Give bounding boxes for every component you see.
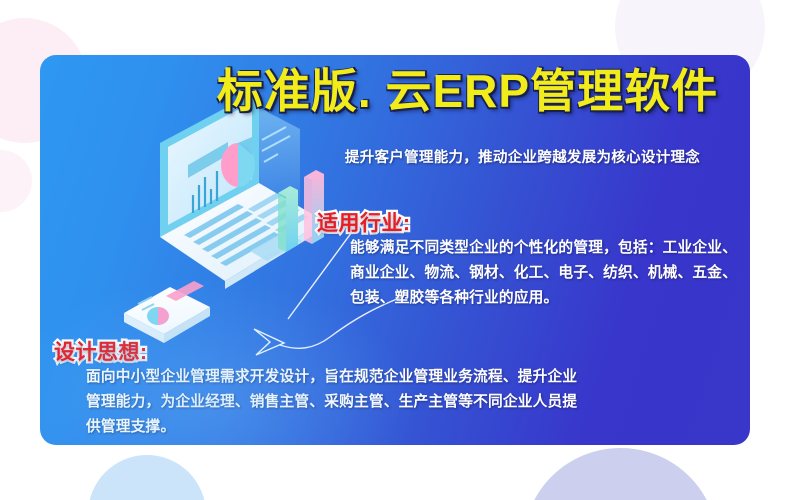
page-subtitle: 提升客户管理能力，推动企业跨越发展为核心设计理念 <box>305 146 740 167</box>
screen-widget-bar <box>188 142 228 178</box>
poster-canvas: 标准版. 云ERP管理软件 提升客户管理能力，推动企业跨越发展为核心设计理念 适… <box>0 0 790 500</box>
section-label-industry: 适用行业: <box>317 207 411 237</box>
laptop-trackpad <box>250 231 302 261</box>
main-banner-card: 标准版. 云ERP管理软件 提升客户管理能力，推动企业跨越发展为核心设计理念 适… <box>40 55 750 445</box>
decorative-circle-blue-bottom-left <box>88 455 206 500</box>
ghost-panel <box>258 107 300 213</box>
section-body-design: 面向中小型企业管理需求开发设计，旨在规范企业管理业务流程、提升企业管理能力，为企… <box>86 365 588 440</box>
screen-bar-chart <box>193 171 217 213</box>
decorative-circle-lavender-bottom <box>523 448 718 500</box>
laptop-screen <box>168 102 252 225</box>
page-title: 标准版. 云ERP管理软件 <box>195 67 740 115</box>
report-stack <box>124 281 210 343</box>
decorative-circle-pink-mid-left <box>0 150 32 212</box>
laptop-base-edge <box>225 221 324 289</box>
speed-lines <box>262 127 290 162</box>
section-body-industry: 能够满足不同类型企业的个性化的管理，包括：工业企业、商业企业、物流、钢材、化工、… <box>350 236 742 311</box>
screen-pie-chart <box>221 137 255 187</box>
laptop-base <box>160 183 324 281</box>
laptop-keyboard <box>184 193 309 266</box>
section-label-design: 设计思想: <box>54 336 148 366</box>
